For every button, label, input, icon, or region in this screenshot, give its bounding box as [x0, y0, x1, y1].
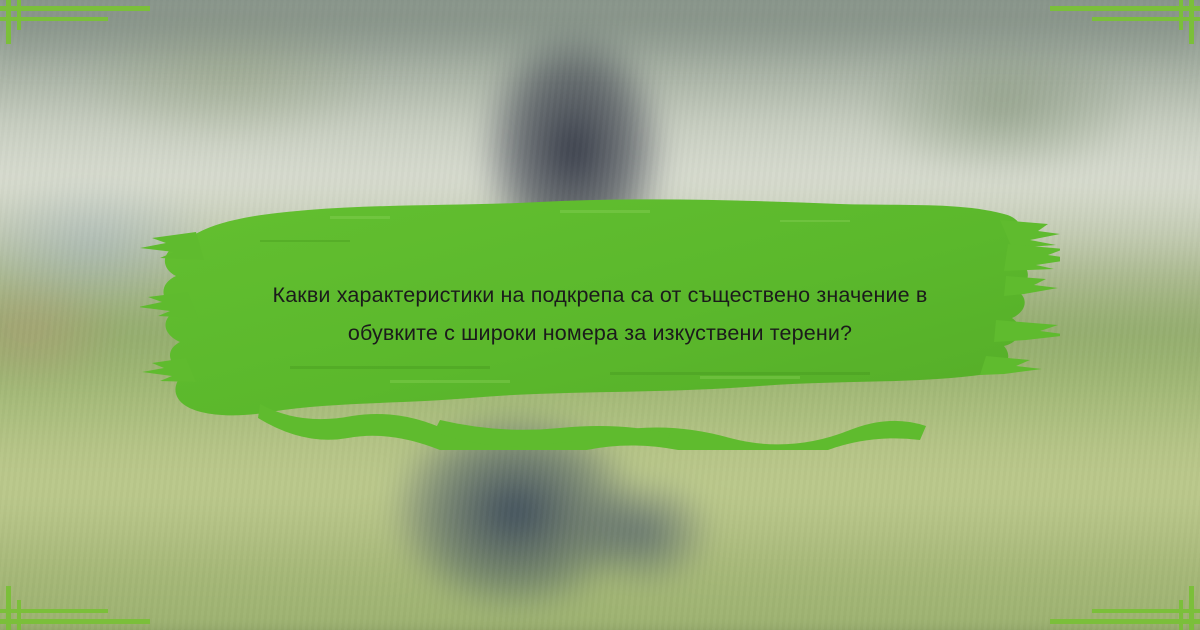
headline-line-2: обувките с широки номера за изкуствени т… [210, 314, 990, 352]
corner-bracket-top-left [0, 0, 150, 44]
headline-banner: Какви характеристики на подкрепа са от с… [140, 180, 1060, 450]
corner-bracket-bottom-right [1050, 586, 1200, 630]
corner-bracket-top-right [1050, 0, 1200, 44]
headline-line-1: Какви характеристики на подкрепа са от с… [210, 276, 990, 314]
corner-bracket-bottom-left [0, 586, 150, 630]
headline-text: Какви характеристики на подкрепа са от с… [210, 276, 990, 352]
background-top-haze [0, 0, 1200, 70]
poster-canvas: Какви характеристики на подкрепа са от с… [0, 0, 1200, 630]
